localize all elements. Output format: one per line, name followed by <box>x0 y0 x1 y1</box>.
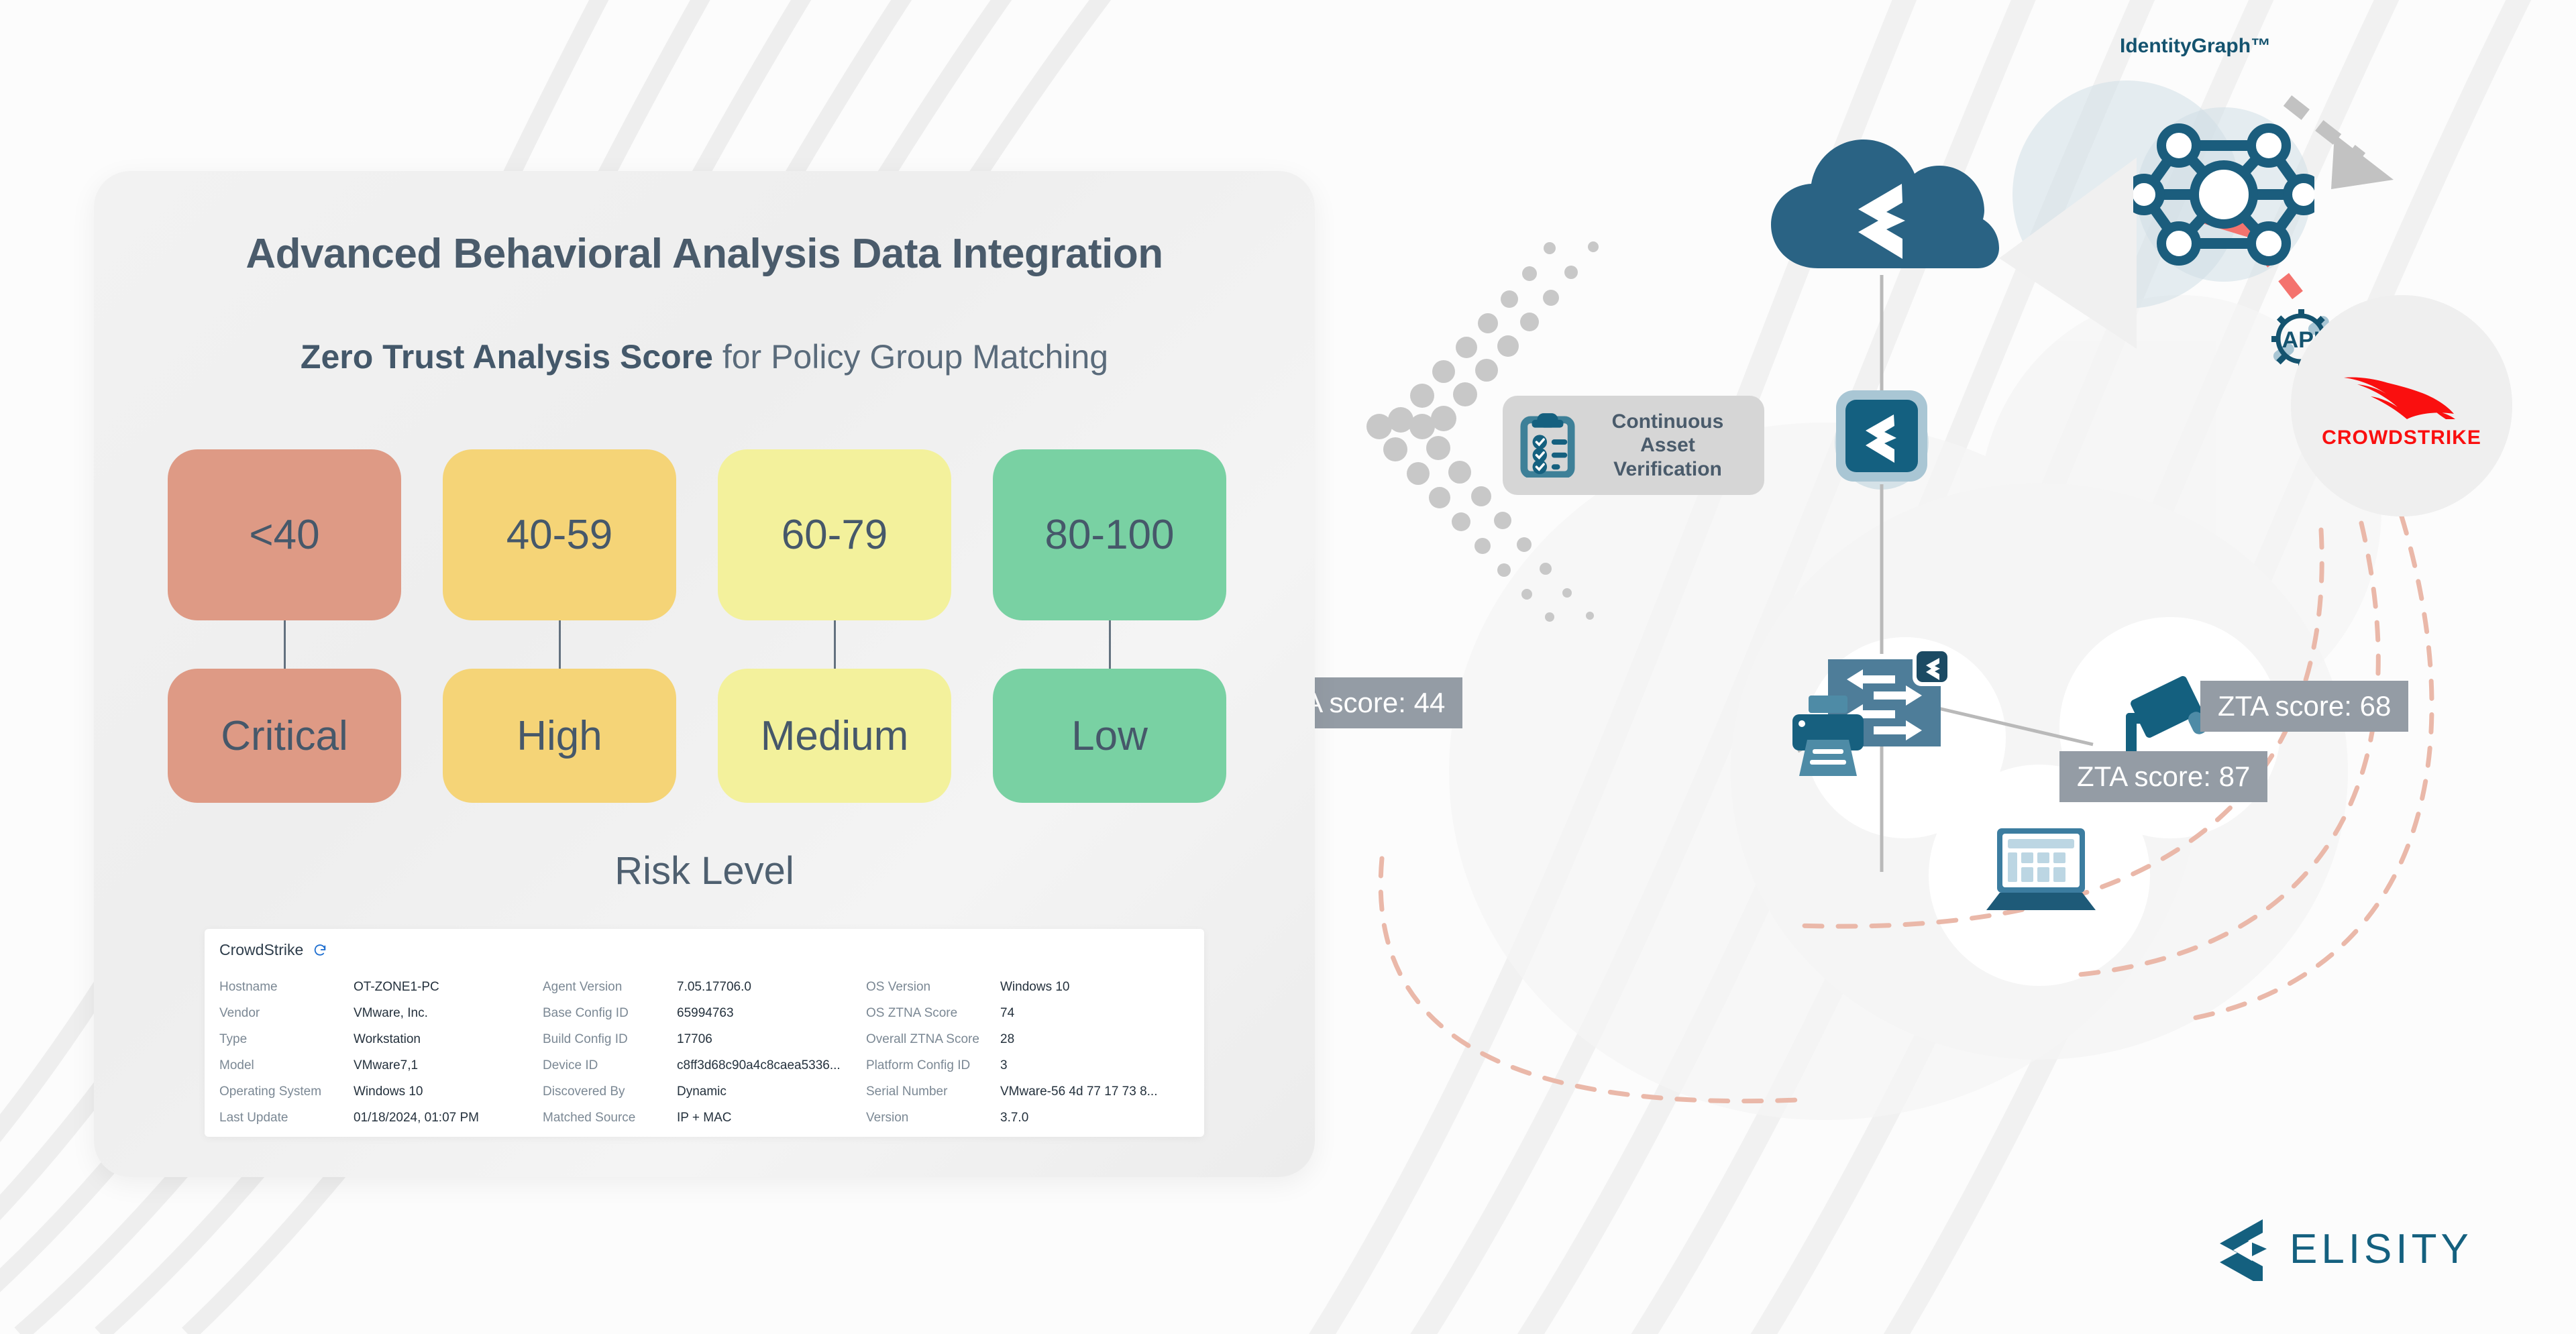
elisity-badge-icon <box>1835 389 1929 483</box>
table-row: Type Workstation <box>219 1026 543 1052</box>
analysis-card: Advanced Behavioral Analysis Data Integr… <box>94 171 1315 1177</box>
attribute-value: 3 <box>1000 1058 1008 1073</box>
attribute-value: 65994763 <box>677 1006 734 1021</box>
attribute-value: c8ff3d68c90a4c8caea5336... <box>677 1058 841 1073</box>
attribute-value: VMware-56 4d 77 17 73 8... <box>1000 1085 1157 1099</box>
printer-icon <box>1848 687 1949 788</box>
axis-label-risk-level: Risk Level <box>94 848 1315 893</box>
cav-line-1: Continuous <box>1612 410 1724 433</box>
risk-column-high: 40-59 High <box>443 449 676 803</box>
elisity-wordmark: ELISITY <box>2290 1225 2473 1273</box>
table-row: OS Version Windows 10 <box>866 974 1189 1000</box>
attribute-key: Model <box>219 1058 354 1073</box>
cav-line-3: Verification <box>1613 458 1722 480</box>
risk-column-critical: <40 Critical <box>168 449 401 803</box>
table-row: Overall ZTNA Score 28 <box>866 1026 1189 1052</box>
risk-score-matrix: <40 Critical 40-59 High 60-79 Medium 80-… <box>168 449 1241 805</box>
attribute-value: 17706 <box>677 1032 712 1047</box>
table-row: OS ZTNA Score 74 <box>866 1000 1189 1026</box>
attribute-key: Build Config ID <box>543 1032 677 1047</box>
attribute-key: OS Version <box>866 980 1000 995</box>
table-row: Model VMware7,1 <box>219 1052 543 1078</box>
laptop-icon <box>1982 822 2100 919</box>
clipboard-check-icon <box>1520 410 1575 481</box>
attribute-key: Base Config ID <box>543 1006 677 1021</box>
risk-level-box: Low <box>993 669 1226 803</box>
cav-line-2: Asset <box>1640 434 1695 456</box>
table-row: Device ID c8ff3d68c90a4c8caea5336... <box>543 1052 866 1078</box>
page-title: Advanced Behavioral Analysis Data Integr… <box>94 230 1315 278</box>
table-column-1: Hostname OT-ZONE1-PC Vendor VMware, Inc.… <box>219 974 543 1131</box>
card-subtitle-rest: for Policy Group Matching <box>713 338 1108 376</box>
zta-score-badge-camera: ZTA score: 68 <box>2200 681 2408 732</box>
identitygraph-label: IdentityGraph™ <box>2120 35 2271 58</box>
attribute-key: Version <box>866 1111 1000 1125</box>
attribute-key: Vendor <box>219 1006 354 1021</box>
attribute-value: 74 <box>1000 1006 1014 1021</box>
connector-line <box>284 620 286 669</box>
attribute-key: Hostname <box>219 980 354 995</box>
score-range-box: 40-59 <box>443 449 676 620</box>
card-subtitle-strong: Zero Trust Analysis Score <box>301 338 713 376</box>
elisity-mark-icon <box>2210 1214 2272 1284</box>
attribute-value: Windows 10 <box>1000 980 1070 995</box>
crowdstrike-details-panel: CrowdStrike Hostname OT-ZONE1-PC Vendor <box>205 929 1204 1137</box>
table-column-3: OS Version Windows 10 OS ZTNA Score 74 O… <box>866 974 1189 1131</box>
table-row: Last Update 01/18/2024, 01:07 PM <box>219 1105 543 1131</box>
score-range-box: <40 <box>168 449 401 620</box>
risk-level-box: Medium <box>718 669 951 803</box>
crowdstrike-panel-header: CrowdStrike <box>219 941 1189 959</box>
risk-column-low: 80-100 Low <box>993 449 1226 803</box>
connector-line <box>1109 620 1111 669</box>
table-row: Version 3.7.0 <box>866 1105 1189 1131</box>
table-row: Agent Version 7.05.17706.0 <box>543 974 866 1000</box>
connector-line <box>834 620 836 669</box>
continuous-asset-verification-badge: Continuous Asset Verification <box>1503 396 1764 495</box>
table-column-2: Agent Version 7.05.17706.0 Base Config I… <box>543 974 866 1131</box>
attribute-value: 01/18/2024, 01:07 PM <box>354 1111 479 1125</box>
attribute-key: Last Update <box>219 1111 354 1125</box>
connector-line <box>559 620 561 669</box>
attribute-key: Matched Source <box>543 1111 677 1125</box>
attribute-key: Operating System <box>219 1085 354 1099</box>
crowdstrike-falcon-icon <box>2334 363 2469 427</box>
attribute-key: Device ID <box>543 1058 677 1073</box>
crowdstrike-node: CROWDSTRIKE <box>2291 295 2512 516</box>
table-row: Vendor VMware, Inc. <box>219 1000 543 1026</box>
attribute-value: 3.7.0 <box>1000 1111 1028 1125</box>
attribute-value: Dynamic <box>677 1085 727 1099</box>
table-row: Matched Source IP + MAC <box>543 1105 866 1131</box>
zero-trust-network-diagram: IdentityGraph™ <box>1328 0 2576 1334</box>
attribute-value: Workstation <box>354 1032 421 1047</box>
attribute-value: OT-ZONE1-PC <box>354 980 439 995</box>
identity-graph-icon <box>2133 104 2314 285</box>
table-row: Discovered By Dynamic <box>543 1078 866 1105</box>
attribute-key: Serial Number <box>866 1085 1000 1099</box>
attribute-value: 7.05.17706.0 <box>677 980 751 995</box>
table-row: Operating System Windows 10 <box>219 1078 543 1105</box>
attribute-value: 28 <box>1000 1032 1014 1047</box>
score-range-box: 80-100 <box>993 449 1226 620</box>
crowdstrike-source-label: CrowdStrike <box>219 941 303 959</box>
crowdstrike-attribute-table: Hostname OT-ZONE1-PC Vendor VMware, Inc.… <box>219 974 1189 1131</box>
risk-column-medium: 60-79 Medium <box>718 449 951 803</box>
attribute-key: Overall ZTNA Score <box>866 1032 1000 1047</box>
risk-level-box: High <box>443 669 676 803</box>
infographic-canvas: Advanced Behavioral Analysis Data Integr… <box>0 0 2576 1334</box>
risk-level-box: Critical <box>168 669 401 803</box>
card-subtitle: Zero Trust Analysis Score for Policy Gro… <box>94 337 1315 376</box>
attribute-value: VMware, Inc. <box>354 1006 428 1021</box>
attribute-value: IP + MAC <box>677 1111 731 1125</box>
table-row: Serial Number VMware-56 4d 77 17 73 8... <box>866 1078 1189 1105</box>
attribute-key: Discovered By <box>543 1085 677 1099</box>
attribute-key: Platform Config ID <box>866 1058 1000 1073</box>
elisity-logo: ELISITY <box>2210 1214 2473 1284</box>
attribute-key: OS ZTNA Score <box>866 1006 1000 1021</box>
attribute-value: Windows 10 <box>354 1085 423 1099</box>
refresh-icon[interactable] <box>313 943 327 958</box>
table-row: Build Config ID 17706 <box>543 1026 866 1052</box>
attribute-value: VMware7,1 <box>354 1058 418 1073</box>
table-row: Platform Config ID 3 <box>866 1052 1189 1078</box>
zta-score-badge-laptop: ZTA score: 87 <box>2059 751 2267 802</box>
attribute-key: Type <box>219 1032 354 1047</box>
elisity-cloud-icon <box>1771 127 1999 282</box>
crowdstrike-wordmark: CROWDSTRIKE <box>2322 427 2481 449</box>
table-row: Base Config ID 65994763 <box>543 1000 866 1026</box>
score-range-box: 60-79 <box>718 449 951 620</box>
attribute-key: Agent Version <box>543 980 677 995</box>
table-row: Hostname OT-ZONE1-PC <box>219 974 543 1000</box>
continuous-asset-verification-label: Continuous Asset Verification <box>1589 410 1747 481</box>
